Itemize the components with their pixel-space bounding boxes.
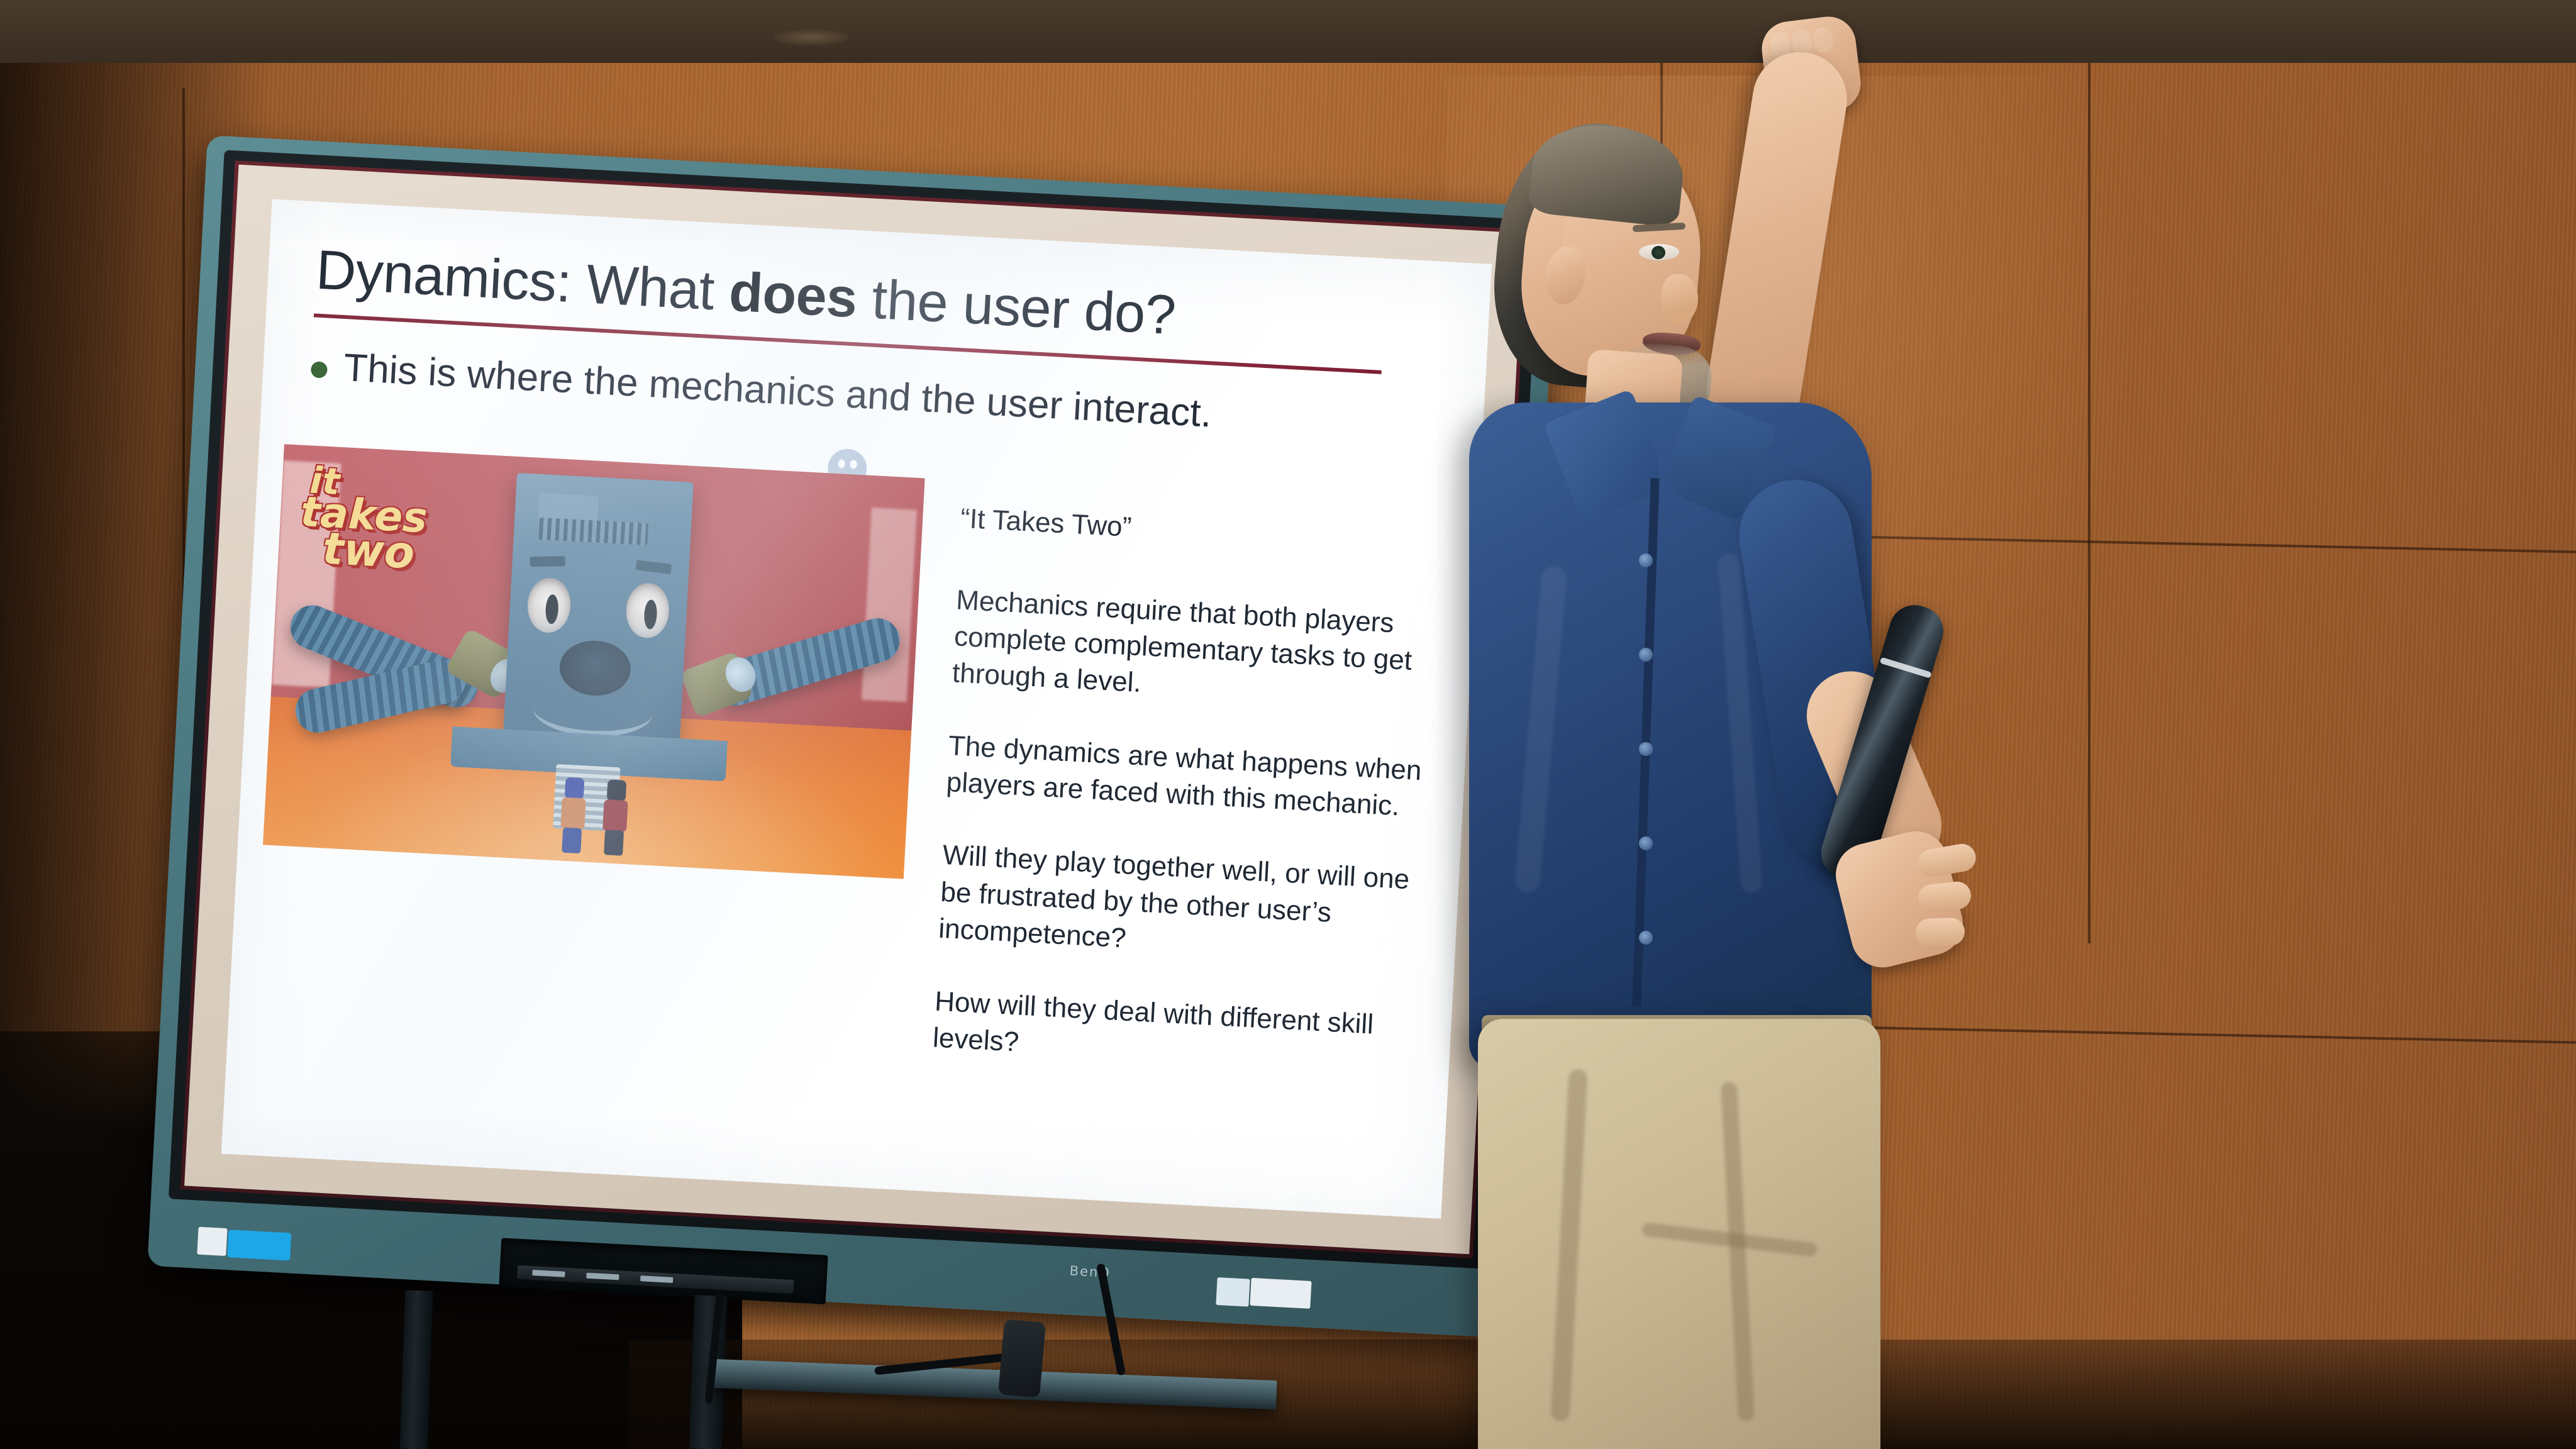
bezel-sticker-icon-left — [197, 1227, 227, 1256]
slide-title-prefix: Dynamics: What — [314, 238, 731, 323]
robot-head — [502, 472, 693, 754]
bezel-sticker-icon-right — [1216, 1277, 1250, 1307]
eye — [1639, 244, 1679, 260]
robot-brow-right — [635, 560, 672, 574]
robot-faceplate — [538, 493, 599, 521]
ceiling-light-fixture — [774, 29, 849, 45]
bullet-dot-icon — [311, 361, 328, 378]
bezel-sticker-blue-left — [227, 1230, 291, 1260]
shirt-button — [1639, 553, 1653, 567]
shirt-button — [1639, 742, 1653, 756]
port-connector-rail — [517, 1265, 794, 1294]
stand-post-left — [400, 1290, 433, 1449]
character-body — [560, 797, 586, 830]
robot-smile-line — [531, 681, 654, 740]
nose — [1662, 274, 1698, 323]
game-title-logo: it takes two — [301, 465, 450, 573]
slide-title: Dynamics: What does the user do? — [315, 242, 1442, 357]
shirt-button — [1639, 836, 1653, 850]
game-screenshot-image: it takes two — [263, 444, 925, 879]
display-port-bay[interactable] — [499, 1238, 828, 1304]
slide-title-emphasis: does — [728, 260, 858, 330]
character-body — [602, 799, 628, 832]
power-adapter — [998, 1319, 1046, 1397]
robot-brow-left — [530, 556, 565, 567]
hair-front — [1528, 118, 1687, 228]
robot-vent-grille — [538, 518, 649, 545]
finger — [1915, 918, 1965, 947]
character-head — [565, 777, 585, 800]
raised-arm — [1699, 45, 1853, 445]
game-character-blue — [558, 777, 588, 854]
slide-title-suffix: the user do? — [855, 267, 1177, 346]
presenter — [1289, 0, 1981, 1449]
robot-eye-right — [625, 582, 670, 639]
finger — [1917, 880, 1972, 914]
shirt-button — [1639, 931, 1653, 945]
character-legs — [604, 830, 624, 856]
presentation-photo-scene: Dynamics: What does the user do? This is… — [0, 0, 2576, 1449]
knuckle — [1813, 26, 1835, 53]
character-head — [606, 780, 626, 802]
game-logo-line-3: two — [321, 530, 447, 573]
character-legs — [562, 828, 582, 854]
display-brand-label: BenQ — [921, 1255, 1111, 1282]
game-character-dark — [600, 779, 630, 856]
robot-pupil-right — [643, 599, 658, 630]
iris — [1652, 246, 1665, 259]
slide-bullet-row: This is where the mechanics and the user… — [310, 345, 1436, 447]
slide-bullet-text: This is where the mechanics and the user… — [343, 347, 1213, 436]
robot-pupil-left — [545, 594, 559, 625]
shirt-button — [1639, 648, 1653, 662]
robot-eye-left — [526, 577, 572, 634]
